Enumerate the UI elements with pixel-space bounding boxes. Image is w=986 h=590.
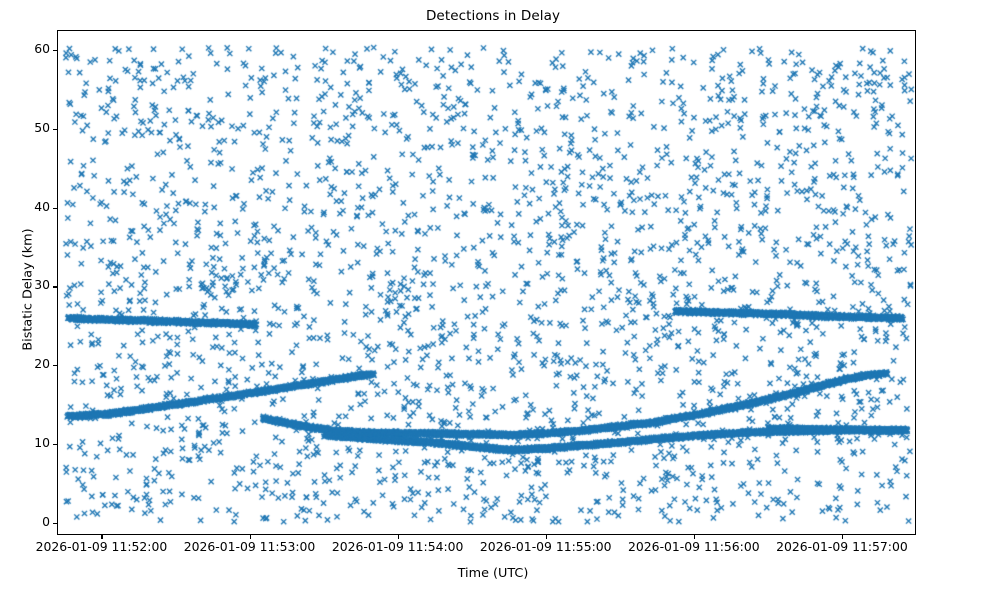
x-tick-label: 2026-01-09 11:52:00 xyxy=(21,541,181,553)
y-tick-mark xyxy=(53,208,57,209)
x-tick-mark xyxy=(101,535,102,539)
chart-figure: Detections in Delay 0102030405060 2026-0… xyxy=(0,0,986,590)
x-axis-label: Time (UTC) xyxy=(0,566,986,581)
x-tick-mark xyxy=(398,535,399,539)
x-tick-mark xyxy=(250,535,251,539)
y-tick-mark xyxy=(53,50,57,51)
chart-title: Detections in Delay xyxy=(0,8,986,24)
x-tick-label: 2026-01-09 11:55:00 xyxy=(466,541,626,553)
x-tick-label: 2026-01-09 11:53:00 xyxy=(170,541,330,553)
y-tick-mark xyxy=(53,286,57,287)
y-axis-label: Bistatic Delay (km) xyxy=(21,200,36,380)
y-tick-label: 60 xyxy=(0,43,50,55)
x-tick-label: 2026-01-09 11:56:00 xyxy=(614,541,774,553)
x-tick-mark xyxy=(546,535,547,539)
y-tick-mark xyxy=(53,523,57,524)
y-tick-mark xyxy=(53,365,57,366)
y-tick-mark xyxy=(53,129,57,130)
x-tick-mark xyxy=(842,535,843,539)
x-tick-label: 2026-01-09 11:57:00 xyxy=(762,541,922,553)
x-tick-mark xyxy=(694,535,695,539)
y-tick-label: 0 xyxy=(0,516,50,528)
y-tick-mark xyxy=(53,444,57,445)
y-tick-label: 50 xyxy=(0,122,50,134)
scatter-canvas xyxy=(58,31,916,535)
plot-area xyxy=(57,30,916,535)
y-tick-label: 10 xyxy=(0,437,50,449)
x-tick-label: 2026-01-09 11:54:00 xyxy=(318,541,478,553)
